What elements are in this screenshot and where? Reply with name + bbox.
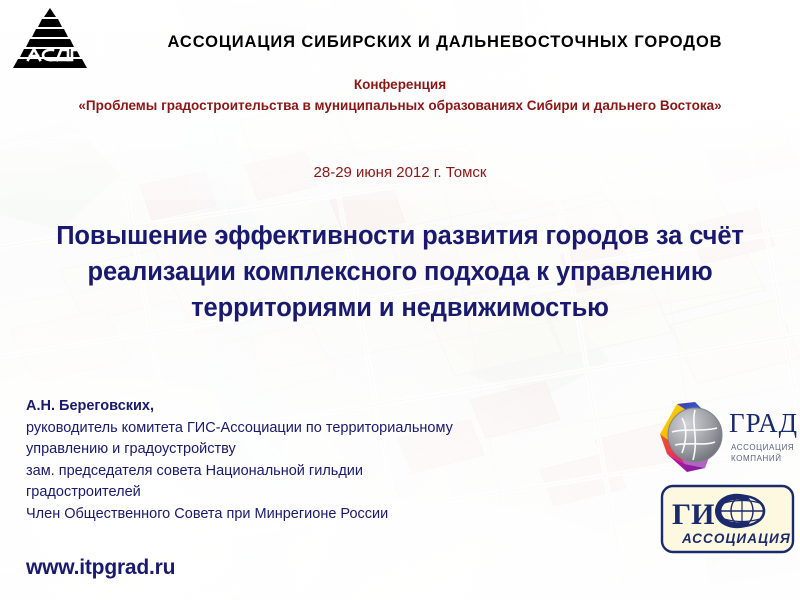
event-date: 28-29 июня 2012 г. Томск — [10, 164, 790, 181]
gis-globe-letter-c — [718, 496, 764, 526]
conference-title: «Проблемы градостроительства в муниципал… — [10, 95, 790, 116]
grad-subtitle-line1: АССОЦИАЦИЯ — [731, 443, 794, 452]
author-role-line-4: градостроителей — [26, 482, 626, 504]
presentation-slide: АССОЦИАЦИЯ СИБИРСКИХ И ДАЛЬНЕВОСТОЧНЫХ Г… — [0, 0, 800, 600]
gis-subtitle: АССОЦИАЦИЯ — [681, 531, 791, 546]
grad-subtitle-line2: КОМПАНИЙ — [731, 454, 782, 463]
conference-label: Конференция — [10, 74, 790, 95]
asdg-pyramid-logo — [8, 6, 92, 72]
organization-title: АССОЦИАЦИЯ СИБИРСКИХ И ДАЛЬНЕВОСТОЧНЫХ Г… — [100, 33, 790, 52]
author-name: А.Н. Береговских, — [26, 396, 626, 418]
grad-association-logo: ГРАД АССОЦИАЦИЯ КОМПАНИЙ — [655, 398, 797, 476]
website-url[interactable]: www.itpgrad.ru — [26, 556, 175, 580]
gis-association-logo: ГИ АССОЦИАЦИЯ — [660, 484, 795, 554]
author-role-line-2: управлению и градоустройству — [26, 439, 626, 461]
gis-wordmark: ГИ — [672, 498, 714, 531]
conference-heading: Конференция «Проблемы градостроительства… — [10, 74, 790, 116]
page-title: Повышение эффективности развития городов… — [26, 218, 774, 326]
author-role-line-3: зам. председателя совета Национальной ги… — [26, 461, 626, 483]
author-block: А.Н. Береговских, руководитель комитета … — [26, 396, 626, 525]
grad-wordmark: ГРАД — [729, 408, 797, 438]
author-role-line-5: Член Общественного Совета при Минрегионе… — [26, 504, 626, 526]
author-role-line-1: руководитель комитета ГИС-Ассоциации по … — [26, 418, 626, 440]
